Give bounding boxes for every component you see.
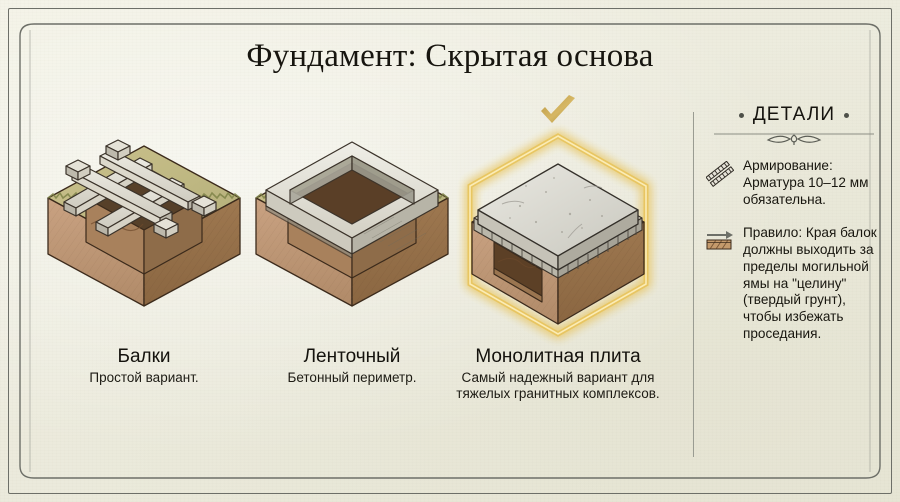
illustration-beams: [36, 106, 252, 331]
foundation-card-strip[interactable]: Ленточный Бетонный периметр.: [244, 96, 460, 466]
details-heading: ДЕТАЛИ: [706, 104, 882, 126]
foundation-card-beams[interactable]: Балки Простой вариант.: [36, 96, 252, 466]
caption-beams: Балки Простой вариант.: [26, 346, 262, 386]
details-panel: ДЕТАЛИ: [706, 104, 882, 359]
detail-text: Армирование: Арматура 10–12 мм обязатель…: [743, 158, 882, 209]
card-subtitle: Самый надежный вариант для тяжелых грани…: [440, 370, 676, 403]
card-subtitle: Бетонный периметр.: [234, 370, 470, 386]
details-heading-label: ДЕТАЛИ: [753, 104, 835, 126]
rebar-icon: [706, 158, 736, 209]
foundation-card-monolith[interactable]: Монолитная плита Самый надежный вариант …: [450, 96, 666, 466]
page-title: Фундамент: Скрытая основа: [0, 38, 900, 75]
detail-text: Правило: Края балок должны выходить за п…: [743, 225, 882, 343]
detail-item-reinforcement: Армирование: Арматура 10–12 мм обязатель…: [706, 158, 882, 209]
card-title: Ленточный: [234, 346, 470, 368]
flourish-divider-icon: [706, 129, 882, 147]
panel-divider: [693, 112, 694, 457]
illustration-monolithic-slab: [450, 118, 666, 343]
card-title: Балки: [26, 346, 262, 368]
arrow-soil-icon: [706, 225, 736, 343]
caption-monolith: Монолитная плита Самый надежный вариант …: [440, 346, 676, 403]
card-title: Монолитная плита: [440, 346, 676, 368]
card-subtitle: Простой вариант.: [26, 370, 262, 386]
bullet-dot-icon: [844, 113, 849, 118]
caption-strip: Ленточный Бетонный периметр.: [234, 346, 470, 386]
foundation-options-group: Балки Простой вариант.: [30, 96, 680, 466]
detail-item-rule: Правило: Края балок должны выходить за п…: [706, 225, 882, 343]
illustration-strip-footing: [244, 106, 460, 331]
bullet-dot-icon: [739, 113, 744, 118]
